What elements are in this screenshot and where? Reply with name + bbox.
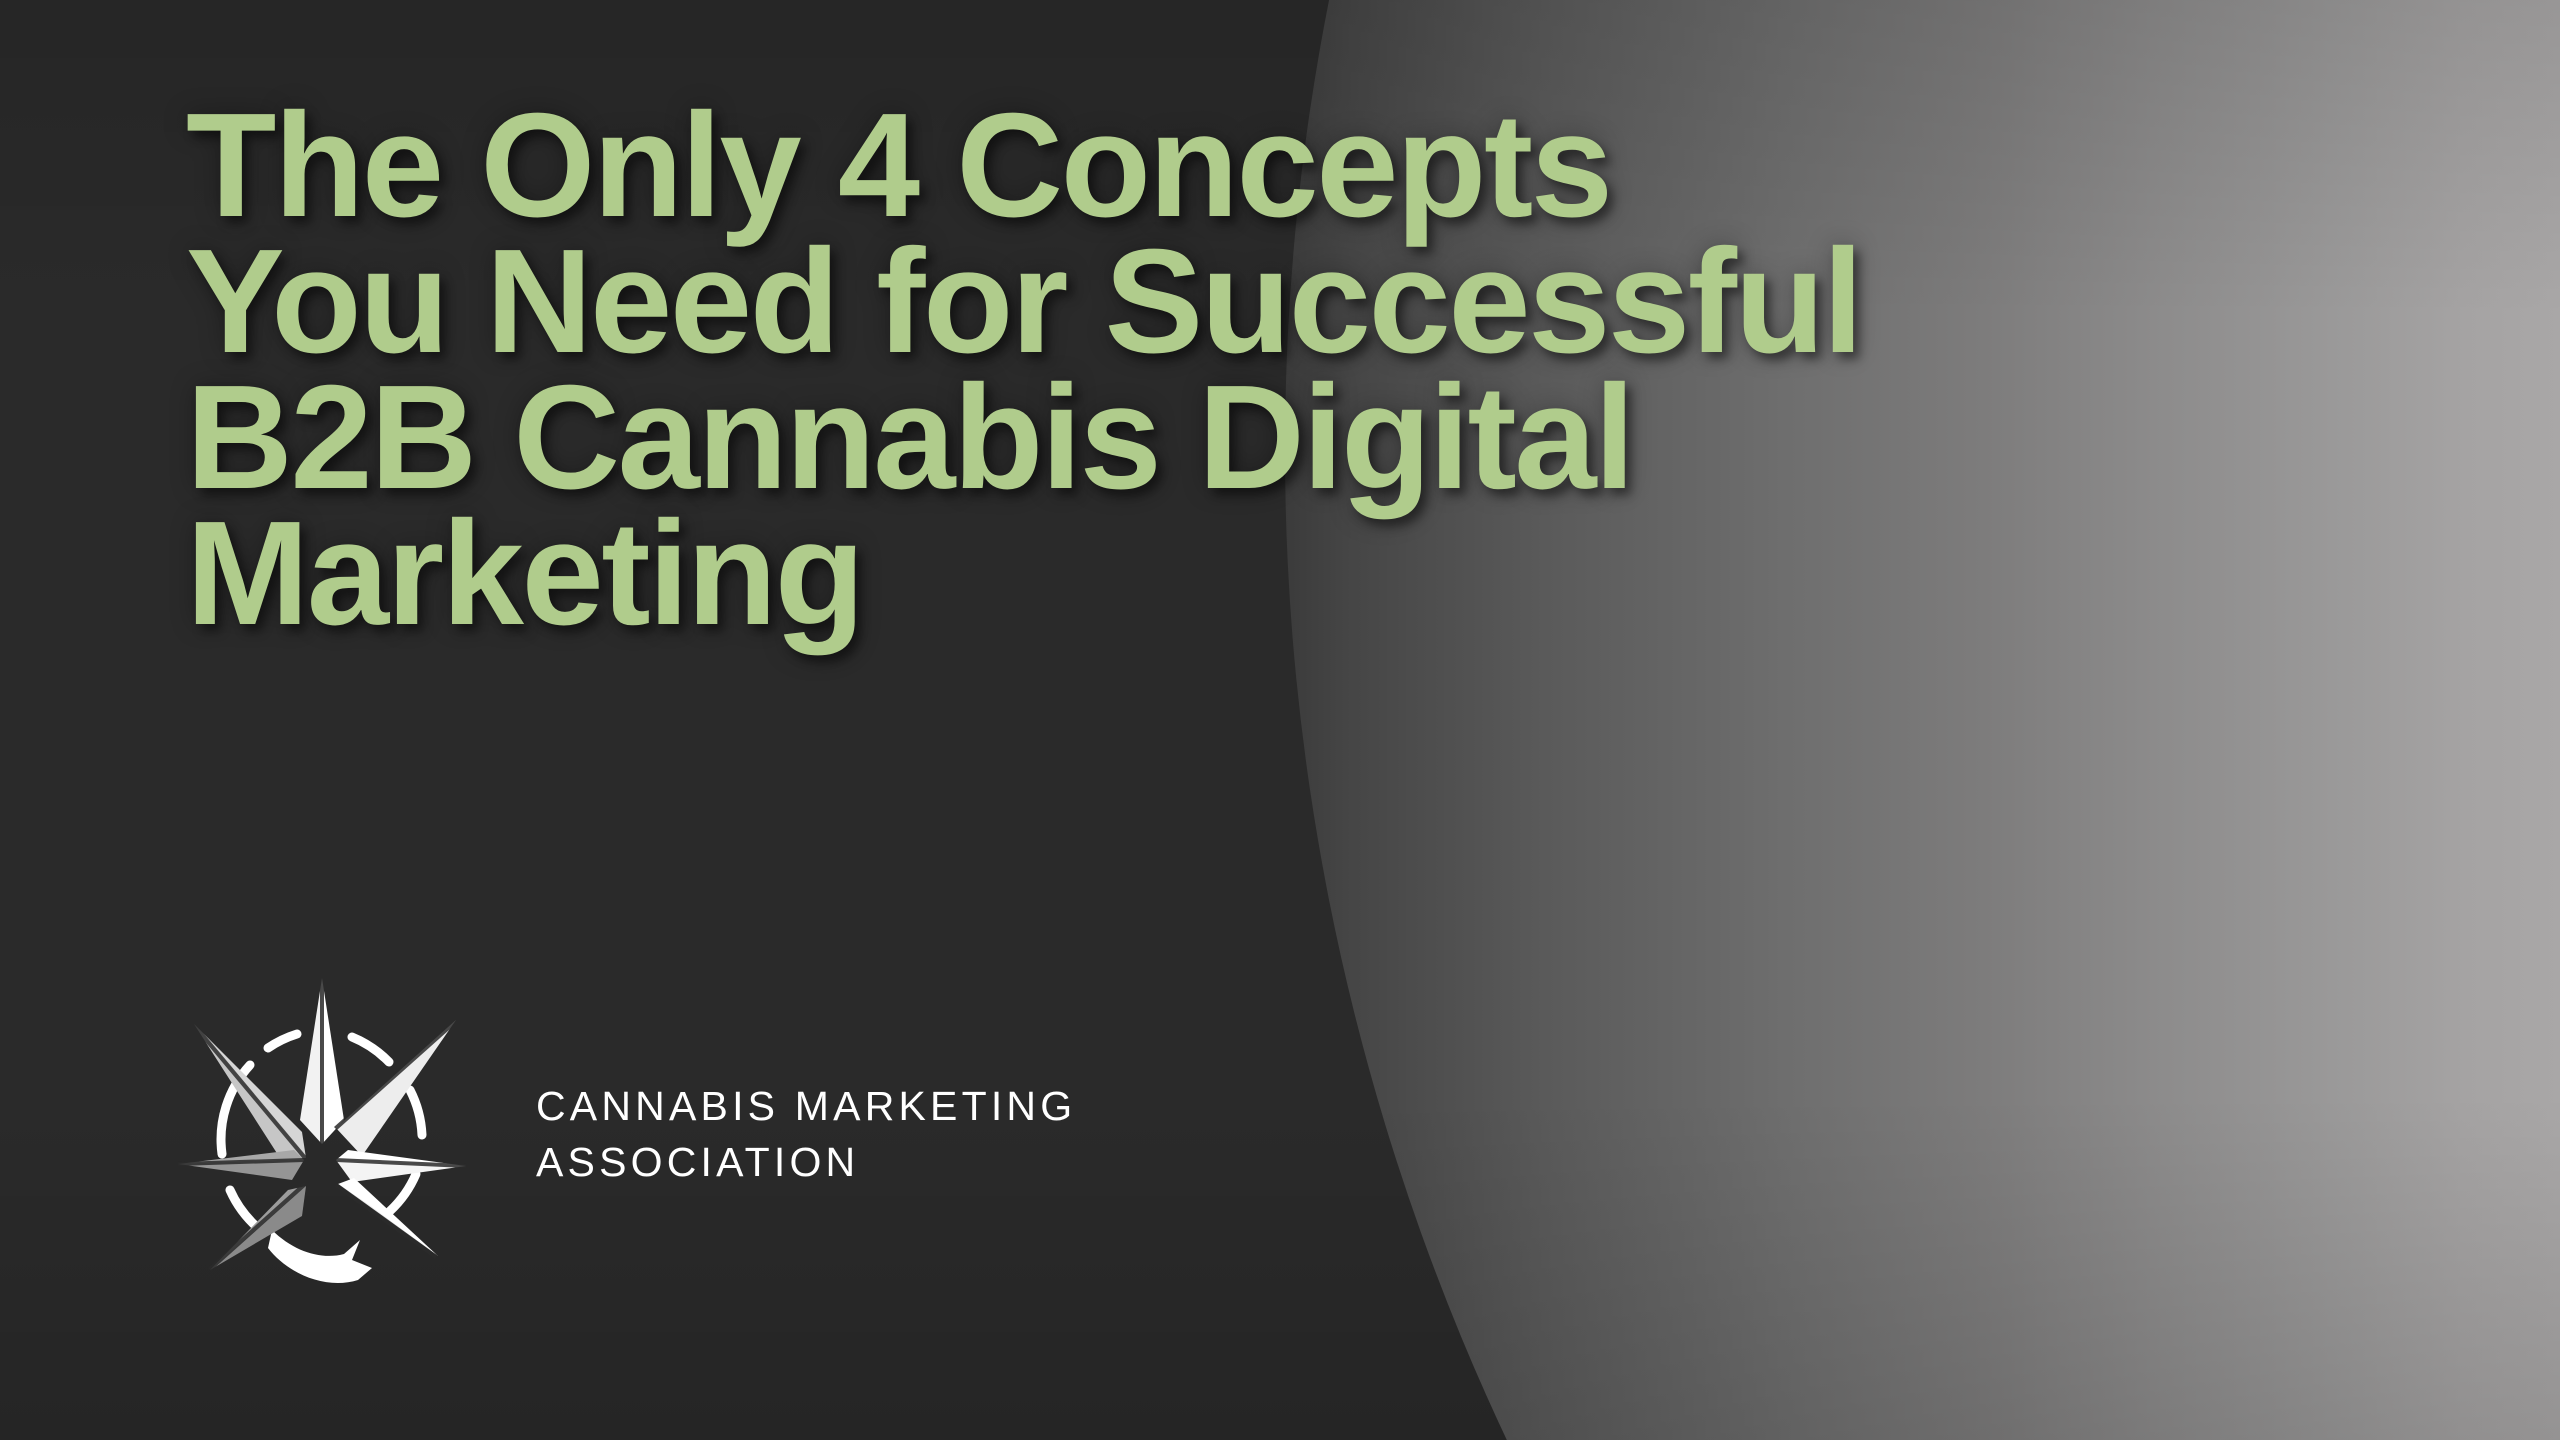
logo-lockup: CANNABIS MARKETING ASSOCIATION (176, 968, 1076, 1290)
logo-leaflet-left (178, 1150, 304, 1180)
logo-wordmark: CANNABIS MARKETING ASSOCIATION (536, 1068, 1076, 1190)
slide-canvas: The Only 4 Concepts You Need for Success… (0, 0, 2560, 1440)
page-title: The Only 4 Concepts You Need for Success… (186, 98, 1946, 642)
logo-leaflet-upper-left (192, 1023, 307, 1160)
logo-stem (268, 1230, 372, 1283)
logo-leaflet-top (300, 978, 344, 1144)
logo-wordmark-line-2: ASSOCIATION (536, 1134, 1076, 1190)
logo-leaflet-right (336, 1150, 466, 1182)
cannabis-leaf-logo-icon (176, 968, 468, 1290)
logo-wordmark-line-1: CANNABIS MARKETING (536, 1078, 1076, 1134)
logo-leaflet-lower-right (335, 1178, 438, 1259)
